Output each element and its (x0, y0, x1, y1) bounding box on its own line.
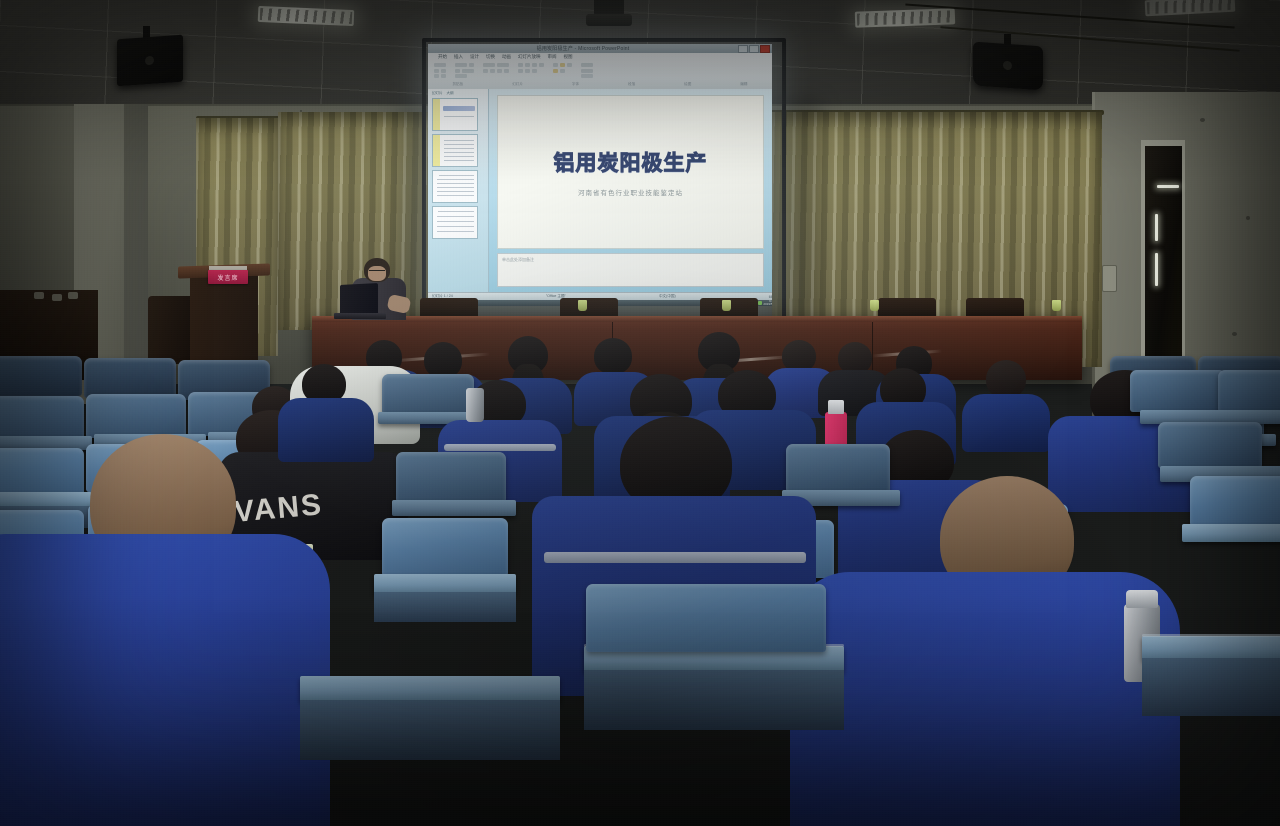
desk-front-panel (1142, 658, 1280, 716)
ribbon-commands[interactable] (428, 60, 772, 81)
desk-front-panel (584, 670, 844, 730)
tab-slides[interactable]: 幻灯片 (432, 91, 443, 96)
wall-mark (1200, 118, 1205, 122)
slide-thumbnail[interactable] (432, 98, 478, 131)
support-pillar-shadow (124, 104, 148, 394)
desk-front-panel (374, 592, 516, 622)
door-light-gap (1155, 253, 1158, 286)
auditorium-seat[interactable] (1218, 370, 1280, 412)
auditorium-seat[interactable] (86, 394, 186, 438)
cup (34, 292, 44, 299)
tea-cup (722, 300, 731, 311)
auditorium-seat[interactable] (382, 374, 474, 414)
ribbon-group-editing[interactable] (581, 63, 593, 78)
thumbnail-accent-band (433, 135, 440, 166)
group-label-slides: 幻灯片 (512, 82, 523, 89)
writing-desk (300, 676, 560, 702)
speaker-cone-icon (145, 55, 154, 65)
auditorium-seat[interactable] (382, 518, 508, 576)
group-label-font: 字体 (572, 82, 579, 89)
auditorium-seat[interactable] (1158, 422, 1262, 468)
glasses-icon (369, 270, 385, 274)
tab-animation[interactable]: 动画 (502, 54, 511, 60)
group-label-editing: 编辑 (740, 82, 747, 89)
ceiling-projector (586, 14, 632, 26)
desk-edge (1142, 634, 1280, 637)
auditorium-seat[interactable] (1130, 370, 1226, 412)
auditorium-seat[interactable] (0, 396, 84, 440)
notes-pane[interactable]: 单击此处添加备注 (497, 253, 764, 287)
ppt-title-bar: 铝用炭阳极生产 - Microsoft PowerPoint (428, 44, 772, 53)
clock-date: 2019/5/9 (763, 303, 772, 306)
restore-icon[interactable] (749, 45, 759, 53)
laptop-base (334, 313, 386, 319)
presenter-laptop (340, 283, 378, 317)
cup (68, 292, 78, 299)
wall-mark (1246, 216, 1250, 220)
tab-review[interactable]: 审阅 (548, 54, 557, 60)
tea-cup (578, 300, 587, 311)
group-label-clipboard: 剪贴板 (452, 82, 463, 89)
slide-thumbnail[interactable] (432, 134, 478, 167)
writing-desk (1182, 524, 1280, 542)
light-switch-plate[interactable] (1102, 265, 1117, 292)
side-door[interactable] (1145, 146, 1182, 380)
slide-editing-stage[interactable]: 铝用炭阳极生产 河南省有色行业职业技能鉴定站 单击此处添加备注 (489, 89, 772, 293)
auditorium-seat[interactable] (1190, 476, 1280, 526)
door-light-gap (1157, 185, 1179, 188)
minimize-icon[interactable] (738, 45, 748, 53)
tea-cup (1052, 300, 1061, 311)
group-label-drawing: 绘图 (684, 82, 691, 89)
ribbon-group-paragraph[interactable] (518, 63, 544, 73)
projected-powerpoint-window[interactable]: 铝用炭阳极生产 - Microsoft PowerPoint 开始 插入 设计 … (428, 44, 772, 306)
ribbon-group-font[interactable] (483, 63, 509, 73)
thermos-cap (1126, 590, 1158, 608)
ribbon-group-drawing[interactable] (553, 63, 572, 73)
podium-sign: 发言席 (208, 270, 248, 284)
tab-transition[interactable]: 切换 (486, 54, 495, 60)
group-label-paragraph: 段落 (628, 82, 635, 89)
slide-subtitle: 河南省有色行业职业技能鉴定站 (578, 187, 683, 197)
wall-mark (1232, 332, 1237, 336)
language-indicator[interactable]: 中文(中国) (659, 294, 676, 299)
writing-desk (392, 500, 516, 516)
tab-view[interactable]: 视图 (564, 54, 573, 60)
ppt-ribbon[interactable]: 开始 插入 设计 切换 动画 幻灯片放映 审阅 视图 (428, 53, 772, 90)
ribbon-group-labels: 剪贴板 幻灯片 字体 段落 绘图 编辑 (428, 82, 772, 89)
wall-speaker-right (973, 42, 1043, 91)
window-controls[interactable] (738, 45, 770, 53)
tab-outline[interactable]: 大纲 (447, 91, 454, 96)
training-room-photo: 铝用炭阳极生产 - Microsoft PowerPoint 开始 插入 设计 … (0, 0, 1280, 826)
cup (52, 294, 62, 301)
slide-thumbnail[interactable] (432, 170, 478, 203)
auditorium-seat[interactable] (0, 448, 84, 496)
tab-home[interactable]: 开始 (438, 54, 447, 60)
auditorium-seat[interactable] (396, 452, 506, 502)
ppt-workspace: 幻灯片 大纲 (428, 89, 772, 293)
door-light-gap (1155, 214, 1158, 241)
podium-sign-text: 发言席 (217, 273, 238, 282)
ribbon-group-clipboard[interactable] (434, 63, 446, 78)
tab-design[interactable]: 设计 (470, 54, 479, 60)
desk-front-panel (300, 700, 560, 760)
auditorium-seat[interactable] (0, 356, 82, 396)
thumbnail-pane-tabs[interactable]: 幻灯片 大纲 (432, 91, 486, 96)
ribbon-tab-strip[interactable]: 开始 插入 设计 切换 动画 幻灯片放映 审阅 视图 (428, 53, 772, 60)
zoom-level[interactable]: 66% (769, 295, 772, 299)
tab-slideshow[interactable]: 幻灯片放映 (518, 54, 541, 60)
tab-insert[interactable]: 插入 (454, 54, 463, 60)
auditorium-seat[interactable] (84, 358, 176, 398)
wall-speaker-left (117, 35, 183, 87)
slide-title: 铝用炭阳极生产 (554, 147, 708, 177)
thumbnail-title-block (443, 106, 475, 111)
speaker-cone-icon (1003, 61, 1012, 71)
slide-thumbnail-pane[interactable]: 幻灯片 大纲 (428, 89, 489, 293)
ppt-window-title: 铝用炭阳极生产 - Microsoft PowerPoint (428, 45, 738, 52)
auditorium-seat[interactable] (586, 584, 826, 652)
audience-seating: VANS (0, 352, 1280, 826)
slide-thumbnail[interactable] (432, 206, 478, 239)
writing-desk (374, 574, 516, 594)
thumbnail-accent-band (433, 99, 440, 130)
writing-desk (1142, 636, 1280, 660)
steel-thermos-bottle (466, 388, 484, 422)
tea-cup (870, 300, 879, 311)
bottle-cap (828, 400, 844, 414)
current-slide[interactable]: 铝用炭阳极生产 河南省有色行业职业技能鉴定站 (497, 95, 764, 249)
taskbar-clock[interactable]: 9:23 2019/5/9 (763, 300, 772, 306)
ribbon-group-slides[interactable] (455, 63, 474, 78)
ime-icon[interactable] (758, 301, 762, 305)
close-icon[interactable] (760, 45, 770, 53)
auditorium-seat[interactable] (786, 444, 890, 492)
stage-desk-lip (312, 316, 1082, 322)
